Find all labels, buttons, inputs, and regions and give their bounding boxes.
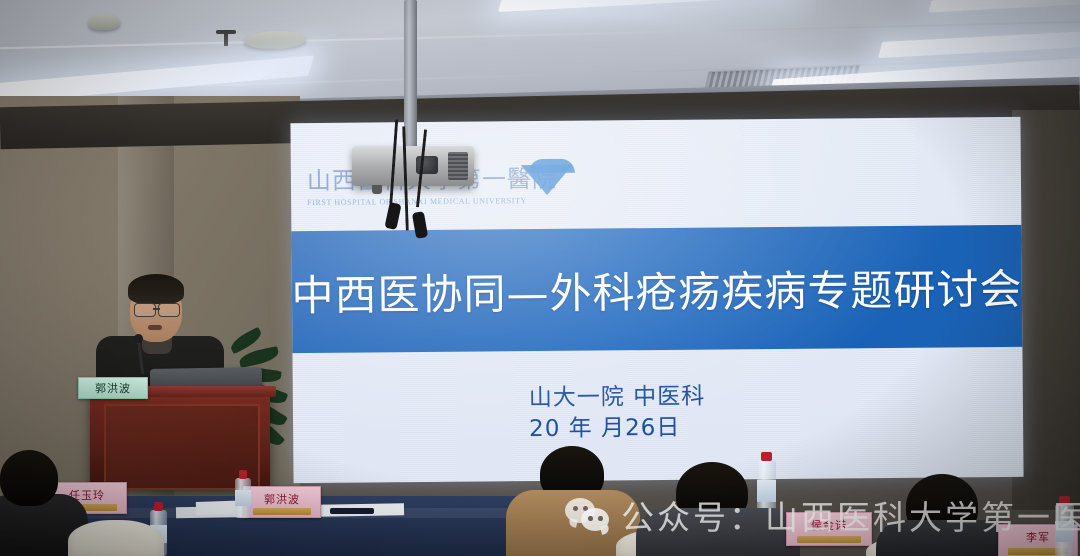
eyeglasses-bridge <box>153 308 160 310</box>
wechat-bubble-dot <box>588 516 593 521</box>
eyeglasses-icon <box>158 303 180 317</box>
bottle-cap <box>154 502 164 511</box>
bottle-cap <box>761 452 772 461</box>
projector-vent <box>448 152 468 180</box>
plant-leaf <box>238 346 280 368</box>
wechat-bubble-tail <box>568 518 577 527</box>
conference-photo: 山西醫科大學第一醫院 FIRST HOSPITAL OF SHANXI MEDI… <box>0 0 1080 556</box>
water-bottle-icon <box>235 470 251 518</box>
podium-nameplate-label: 郭洪波 <box>95 380 131 396</box>
wechat-bubble-dot <box>598 516 603 521</box>
projector-foot <box>372 185 382 194</box>
podium-nameplate: 郭洪波 <box>78 377 148 399</box>
bottle-label <box>235 490 251 506</box>
watermark: 公众号：山西医科大学第一医院 <box>565 489 1075 541</box>
table-nameplate: 郭洪波 <box>243 486 321 518</box>
sprinkler-head-icon <box>224 32 228 46</box>
eyeglasses-icon <box>134 303 156 317</box>
watermark-text: 公众号：山西医科大学第一医院 <box>621 491 1080 539</box>
table-nameplate-label: 郭洪波 <box>264 491 300 507</box>
speaker-hair <box>128 274 184 304</box>
smoke-detector-icon <box>88 13 121 30</box>
wechat-icon <box>565 498 611 532</box>
speaker-mouth <box>148 325 162 330</box>
chair <box>68 520 164 556</box>
microphone-icon <box>134 334 143 343</box>
pen-icon <box>330 508 374 514</box>
attendee-head <box>0 450 58 506</box>
bottle-cap <box>239 470 248 479</box>
wechat-bubble-tail <box>600 525 609 534</box>
wechat-bubble-dot <box>573 506 578 511</box>
nameplate-base <box>253 508 311 515</box>
